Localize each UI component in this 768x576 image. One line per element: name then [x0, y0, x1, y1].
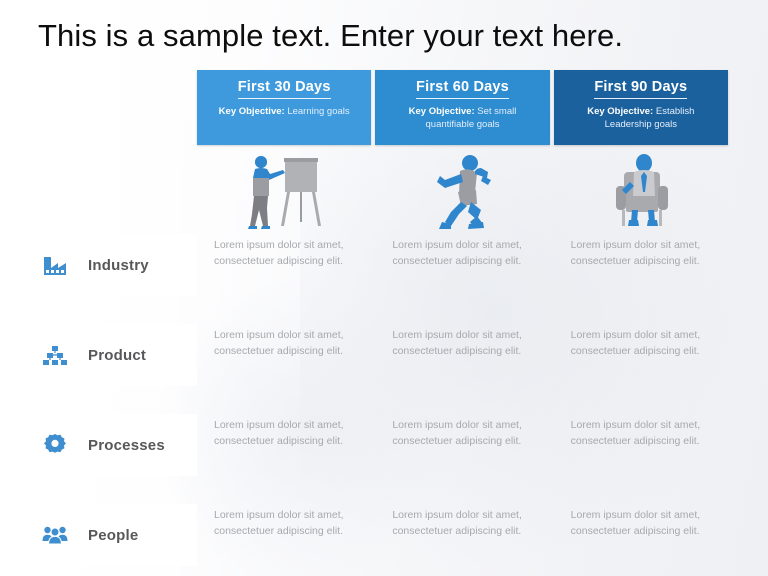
phase-box-first-30-days[interactable]: First 30 Days Key Objective: Learning go…	[197, 70, 371, 145]
cell-industry-first-90-days: Lorem ipsum dolor sit amet, consectetuer…	[554, 234, 728, 296]
cell-people-first-30-days: Lorem ipsum dolor sit amet, consectetuer…	[197, 504, 371, 566]
cell-processes-first-60-days: Lorem ipsum dolor sit amet, consectetuer…	[375, 414, 549, 476]
cell-text: Lorem ipsum dolor sit amet, consectetuer…	[214, 508, 349, 539]
cell-processes-first-30-days: Lorem ipsum dolor sit amet, consectetuer…	[197, 414, 371, 476]
illustration-cell-first-90-days	[554, 146, 728, 232]
row-cells-product: Lorem ipsum dolor sit amet, consectetuer…	[197, 324, 728, 386]
phase-objective-label-first-90-days: Key Objective:	[587, 106, 653, 117]
cell-text: Lorem ipsum dolor sit amet, consectetuer…	[214, 238, 349, 269]
cell-product-first-60-days: Lorem ipsum dolor sit amet, consectetuer…	[375, 324, 549, 386]
gear-icon	[38, 433, 72, 457]
cell-text: Lorem ipsum dolor sit amet, consectetuer…	[392, 508, 527, 539]
cell-text: Lorem ipsum dolor sit amet, consectetuer…	[392, 328, 527, 359]
table-row: Product Lorem ipsum dolor sit amet, cons…	[0, 324, 768, 386]
cell-people-first-60-days: Lorem ipsum dolor sit amet, consectetuer…	[375, 504, 549, 566]
illustration-cell-first-60-days	[375, 146, 549, 232]
cell-text: Lorem ipsum dolor sit amet, consectetuer…	[571, 238, 706, 269]
table-row: People Lorem ipsum dolor sit amet, conse…	[0, 504, 768, 566]
illustration-cell-first-30-days	[197, 146, 371, 232]
phase-objective-first-90-days: Key Objective: Establish Leadership goal…	[566, 105, 716, 131]
phase-objective-value-first-30-days: Learning goals	[287, 106, 349, 117]
row-label-processes: Processes	[88, 437, 165, 454]
cell-product-first-90-days: Lorem ipsum dolor sit amet, consectetuer…	[554, 324, 728, 386]
phase-title-first-30-days: First 30 Days	[238, 79, 331, 99]
phase-box-first-90-days[interactable]: First 90 Days Key Objective: Establish L…	[554, 70, 728, 145]
phase-objective-label-first-30-days: Key Objective:	[219, 106, 285, 117]
row-label-product: Product	[88, 347, 146, 364]
phase-title-first-60-days: First 60 Days	[416, 79, 509, 99]
phase-title-first-90-days: First 90 Days	[594, 79, 687, 99]
row-label-band-processes[interactable]: Processes	[0, 414, 197, 476]
row-cells-processes: Lorem ipsum dolor sit amet, consectetuer…	[197, 414, 728, 476]
slide-canvas: This is a sample text. Enter your text h…	[0, 0, 768, 576]
cell-industry-first-30-days: Lorem ipsum dolor sit amet, consectetuer…	[197, 234, 371, 296]
phase-objective-first-60-days: Key Objective: Set small quantifiable go…	[387, 105, 537, 131]
table-row: Industry Lorem ipsum dolor sit amet, con…	[0, 234, 768, 296]
cell-processes-first-90-days: Lorem ipsum dolor sit amet, consectetuer…	[554, 414, 728, 476]
row-label-industry: Industry	[88, 257, 149, 274]
row-label-band-product[interactable]: Product	[0, 324, 197, 386]
cell-text: Lorem ipsum dolor sit amet, consectetuer…	[571, 508, 706, 539]
phase-header-row: First 30 Days Key Objective: Learning go…	[197, 70, 728, 145]
presenter-at-flipchart-icon	[241, 152, 327, 232]
row-cells-industry: Lorem ipsum dolor sit amet, consectetuer…	[197, 234, 728, 296]
illustration-strip	[197, 146, 728, 232]
cell-people-first-90-days: Lorem ipsum dolor sit amet, consectetuer…	[554, 504, 728, 566]
cell-text: Lorem ipsum dolor sit amet, consectetuer…	[214, 328, 349, 359]
row-label-band-industry[interactable]: Industry	[0, 234, 197, 296]
cell-product-first-30-days: Lorem ipsum dolor sit amet, consectetuer…	[197, 324, 371, 386]
row-cells-people: Lorem ipsum dolor sit amet, consectetuer…	[197, 504, 728, 566]
slide-title: This is a sample text. Enter your text h…	[38, 16, 623, 56]
running-person-icon	[425, 152, 499, 232]
cell-text: Lorem ipsum dolor sit amet, consectetuer…	[571, 418, 706, 449]
row-label-band-people[interactable]: People	[0, 504, 197, 566]
cell-text: Lorem ipsum dolor sit amet, consectetuer…	[392, 418, 527, 449]
row-label-people: People	[88, 527, 138, 544]
stacked-blocks-icon	[38, 343, 72, 367]
cell-text: Lorem ipsum dolor sit amet, consectetuer…	[214, 418, 349, 449]
phase-box-first-60-days[interactable]: First 60 Days Key Objective: Set small q…	[375, 70, 549, 145]
factory-icon	[38, 253, 72, 277]
category-rows: Industry Lorem ipsum dolor sit amet, con…	[0, 232, 768, 576]
seated-executive-icon	[604, 152, 678, 232]
cell-industry-first-60-days: Lorem ipsum dolor sit amet, consectetuer…	[375, 234, 549, 296]
cell-text: Lorem ipsum dolor sit amet, consectetuer…	[571, 328, 706, 359]
cell-text: Lorem ipsum dolor sit amet, consectetuer…	[392, 238, 527, 269]
people-group-icon	[38, 523, 72, 547]
phase-objective-label-first-60-days: Key Objective:	[409, 106, 475, 117]
table-row: Processes Lorem ipsum dolor sit amet, co…	[0, 414, 768, 476]
phase-objective-first-30-days: Key Objective: Learning goals	[209, 105, 359, 118]
